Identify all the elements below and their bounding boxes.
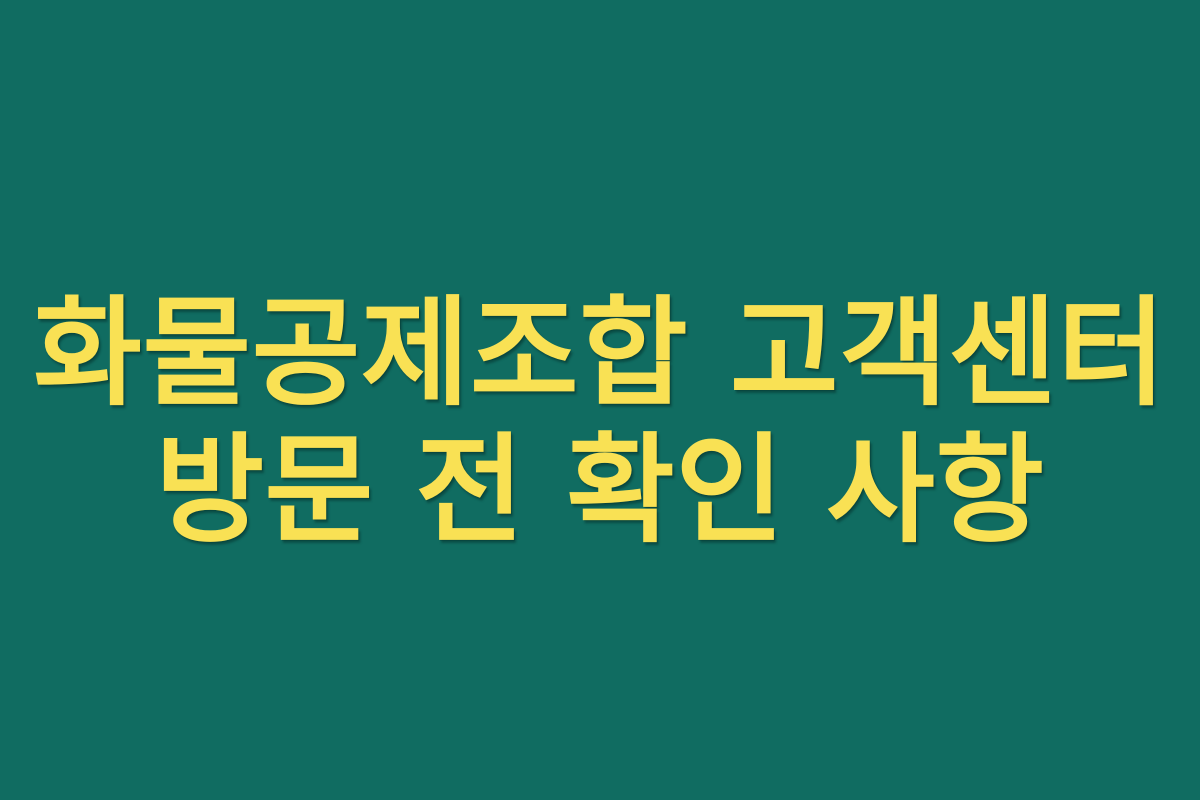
headline-line-1: 화물공제조합 고객센터 bbox=[0, 285, 1200, 422]
headline-line-2: 방문 전 확인 사항 bbox=[0, 422, 1200, 559]
headline-block: 화물공제조합 고객센터 방문 전 확인 사항 bbox=[0, 285, 1200, 559]
thumbnail-card: 화물공제조합 고객센터 방문 전 확인 사항 bbox=[0, 0, 1200, 800]
